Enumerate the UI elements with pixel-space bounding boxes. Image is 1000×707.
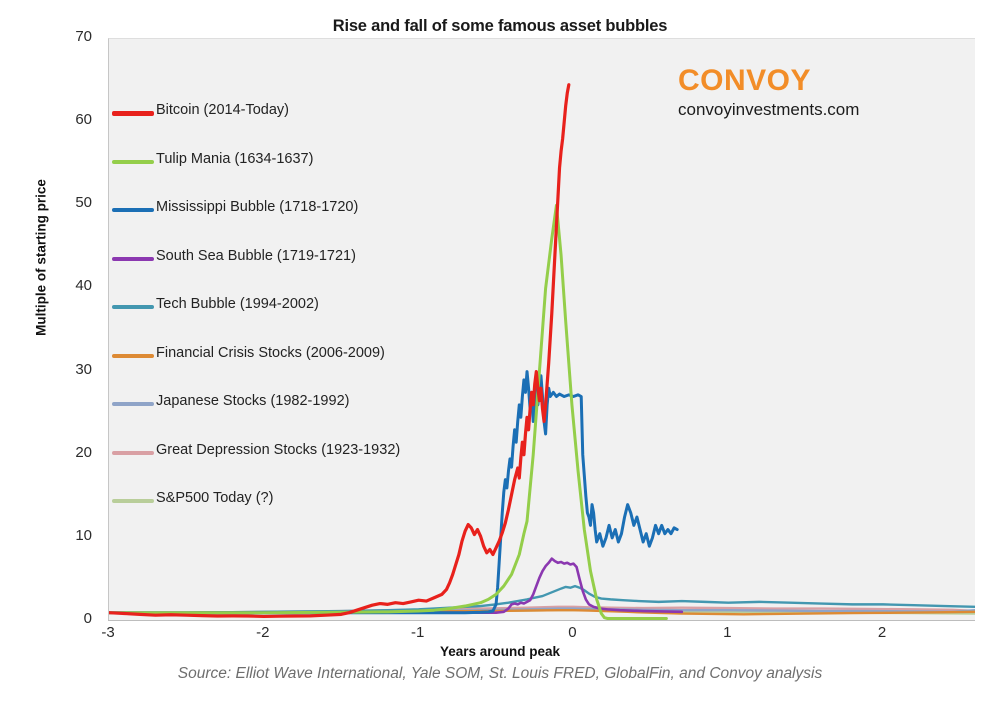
x-tick-label: 0	[542, 624, 602, 641]
x-tick-label: -3	[78, 624, 138, 641]
legend-color-swatch	[112, 402, 154, 406]
plot-svg	[109, 39, 975, 620]
convoy-logo: CONVOY convoyinvestments.com	[678, 66, 859, 118]
plot-area	[108, 38, 975, 620]
y-tick-label: 60	[30, 111, 92, 128]
legend-item-label: Financial Crisis Stocks (2006-2009)	[156, 345, 385, 361]
y-axis-title: Multiple of starting price	[34, 143, 49, 373]
legend-item-label: Tulip Mania (1634-1637)	[156, 151, 313, 167]
y-tick-label: 20	[30, 444, 92, 461]
legend-item-label: Mississippi Bubble (1718-1720)	[156, 199, 358, 215]
x-tick-label: 1	[697, 624, 757, 641]
legend-item-label: Tech Bubble (1994-2002)	[156, 296, 319, 312]
legend-item-label: Japanese Stocks (1982-1992)	[156, 393, 349, 409]
y-tick-label: 10	[30, 527, 92, 544]
legend-item-label: Bitcoin (2014-Today)	[156, 102, 289, 118]
legend-color-swatch	[112, 305, 154, 309]
page-title: Rise and fall of some famous asset bubbl…	[0, 17, 1000, 36]
legend-color-swatch	[112, 208, 154, 212]
series-line	[109, 559, 682, 613]
logo-wordmark: CONVOY	[678, 66, 859, 96]
x-tick-label: -1	[388, 624, 448, 641]
legend-color-swatch	[112, 111, 154, 116]
x-tick-label: 2	[852, 624, 912, 641]
logo-url: convoyinvestments.com	[678, 101, 859, 118]
legend-item-label: S&P500 Today (?)	[156, 490, 273, 506]
x-axis-line	[108, 620, 975, 621]
y-tick-label: 70	[30, 28, 92, 45]
x-axis-title: Years around peak	[0, 644, 1000, 659]
legend-item-label: Great Depression Stocks (1923-1932)	[156, 442, 400, 458]
legend-color-swatch	[112, 354, 154, 358]
legend-item-label: South Sea Bubble (1719-1721)	[156, 248, 356, 264]
x-tick-label: -2	[233, 624, 293, 641]
legend-color-swatch	[112, 257, 154, 261]
legend-color-swatch	[112, 499, 154, 503]
source-note: Source: Elliot Wave International, Yale …	[0, 665, 1000, 683]
legend-color-swatch	[112, 451, 154, 455]
chart-page: Rise and fall of some famous asset bubbl…	[0, 0, 1000, 707]
legend-color-swatch	[112, 160, 154, 164]
